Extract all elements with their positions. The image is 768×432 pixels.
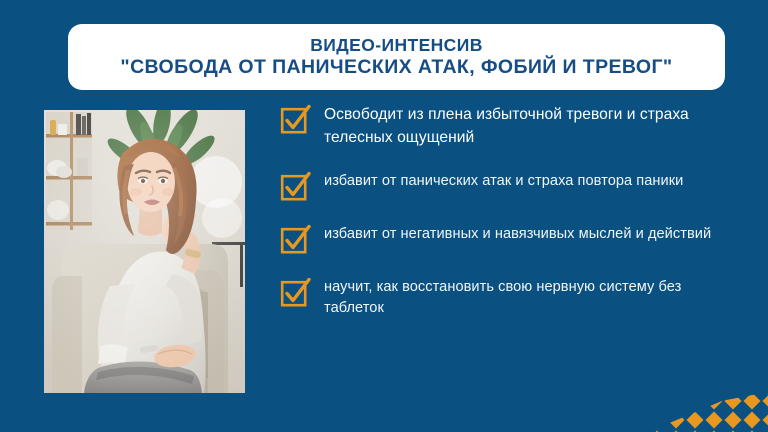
portrait-photo bbox=[44, 110, 245, 393]
benefits-list: Освободит из плена избыточной тревоги и … bbox=[280, 104, 745, 320]
list-item: избавит от панических атак и страха повт… bbox=[280, 171, 745, 202]
page-title-line-1: ВИДЕО-ИНТЕНСИВ bbox=[310, 36, 482, 55]
slide-root: ВИДЕО-ИНТЕНСИВ "СВОБОДА ОТ ПАНИЧЕСКИХ АТ… bbox=[0, 0, 768, 432]
list-item-label: Освободит из плена избыточной тревоги и … bbox=[324, 104, 745, 149]
checkbox-checked-icon bbox=[280, 225, 310, 255]
list-item-label: избавит от негативных и навязчивых мысле… bbox=[324, 224, 711, 245]
checkbox-checked-icon bbox=[280, 172, 310, 202]
list-item: научит, как восстановить свою нервную си… bbox=[280, 277, 745, 319]
diamond-grid-pattern bbox=[648, 392, 768, 432]
list-item-label: научит, как восстановить свою нервную си… bbox=[324, 277, 745, 319]
list-item: Освободит из плена избыточной тревоги и … bbox=[280, 104, 745, 149]
title-card: ВИДЕО-ИНТЕНСИВ "СВОБОДА ОТ ПАНИЧЕСКИХ АТ… bbox=[68, 24, 725, 90]
list-item: избавит от негативных и навязчивых мысле… bbox=[280, 224, 745, 255]
page-title-line-2: "СВОБОДА ОТ ПАНИЧЕСКИХ АТАК, ФОБИЙ И ТРЕ… bbox=[120, 57, 672, 78]
checkbox-checked-icon bbox=[280, 105, 310, 135]
checkbox-checked-icon bbox=[280, 278, 310, 308]
portrait-photo-image bbox=[44, 110, 245, 393]
list-item-label: избавит от панических атак и страха повт… bbox=[324, 171, 683, 192]
